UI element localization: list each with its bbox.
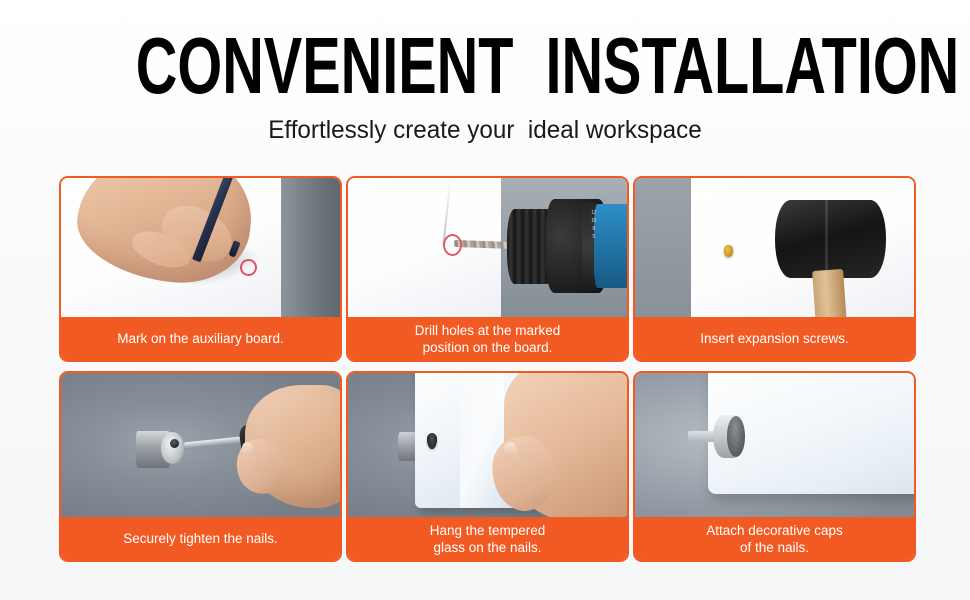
step-card-1: Mark on the auxiliary board. — [59, 176, 342, 362]
steps-grid: Mark on the auxiliary board. 12 10 8 5 — [59, 176, 917, 562]
wall-edge — [281, 178, 340, 317]
mallet-head-band — [825, 200, 828, 278]
step-photo-6 — [635, 373, 914, 517]
step-caption-5: Hang the tempered glass on the nails. — [348, 517, 627, 560]
step-card-4: Securely tighten the nails. — [59, 371, 342, 562]
mallet-head — [775, 200, 887, 278]
page-subtitle: Effortlessly create your ideal workspace — [15, 106, 956, 144]
decorative-cap-face — [727, 416, 745, 456]
expansion-screw — [724, 245, 733, 257]
step-card-6: Attach decorative caps of the nails. — [633, 371, 916, 562]
red-mark-circle — [443, 234, 462, 256]
wall-strip — [635, 178, 691, 317]
step-caption-1: Mark on the auxiliary board. — [61, 317, 340, 360]
step-card-5: Hang the tempered glass on the nails. — [346, 371, 629, 562]
installation-infographic: CONVENIENT INSTALLATION Effortlessly cre… — [0, 0, 970, 600]
step-photo-4 — [61, 373, 340, 517]
header: CONVENIENT INSTALLATION Effortlessly cre… — [0, 0, 970, 144]
step-card-3: Insert expansion screws. — [633, 176, 916, 362]
screw-head — [170, 439, 179, 448]
step-caption-3: Insert expansion screws. — [635, 317, 914, 360]
step-caption-2: Drill holes at the marked position on th… — [348, 317, 627, 360]
step-photo-3 — [635, 178, 914, 317]
step-caption-4: Securely tighten the nails. — [61, 517, 340, 560]
fingernail — [504, 442, 517, 457]
mallet-handle — [812, 269, 846, 317]
step-photo-1 — [61, 178, 340, 317]
step-photo-2: 12 10 8 5 — [348, 178, 627, 317]
step-card-2: 12 10 8 5 Drill holes at the marked posi… — [346, 176, 629, 362]
page-title: CONVENIENT INSTALLATION — [136, 0, 834, 106]
drill-dial-numbers: 12 10 8 5 — [585, 209, 602, 287]
step-photo-5 — [348, 373, 627, 517]
step-caption-6: Attach decorative caps of the nails. — [635, 517, 914, 560]
